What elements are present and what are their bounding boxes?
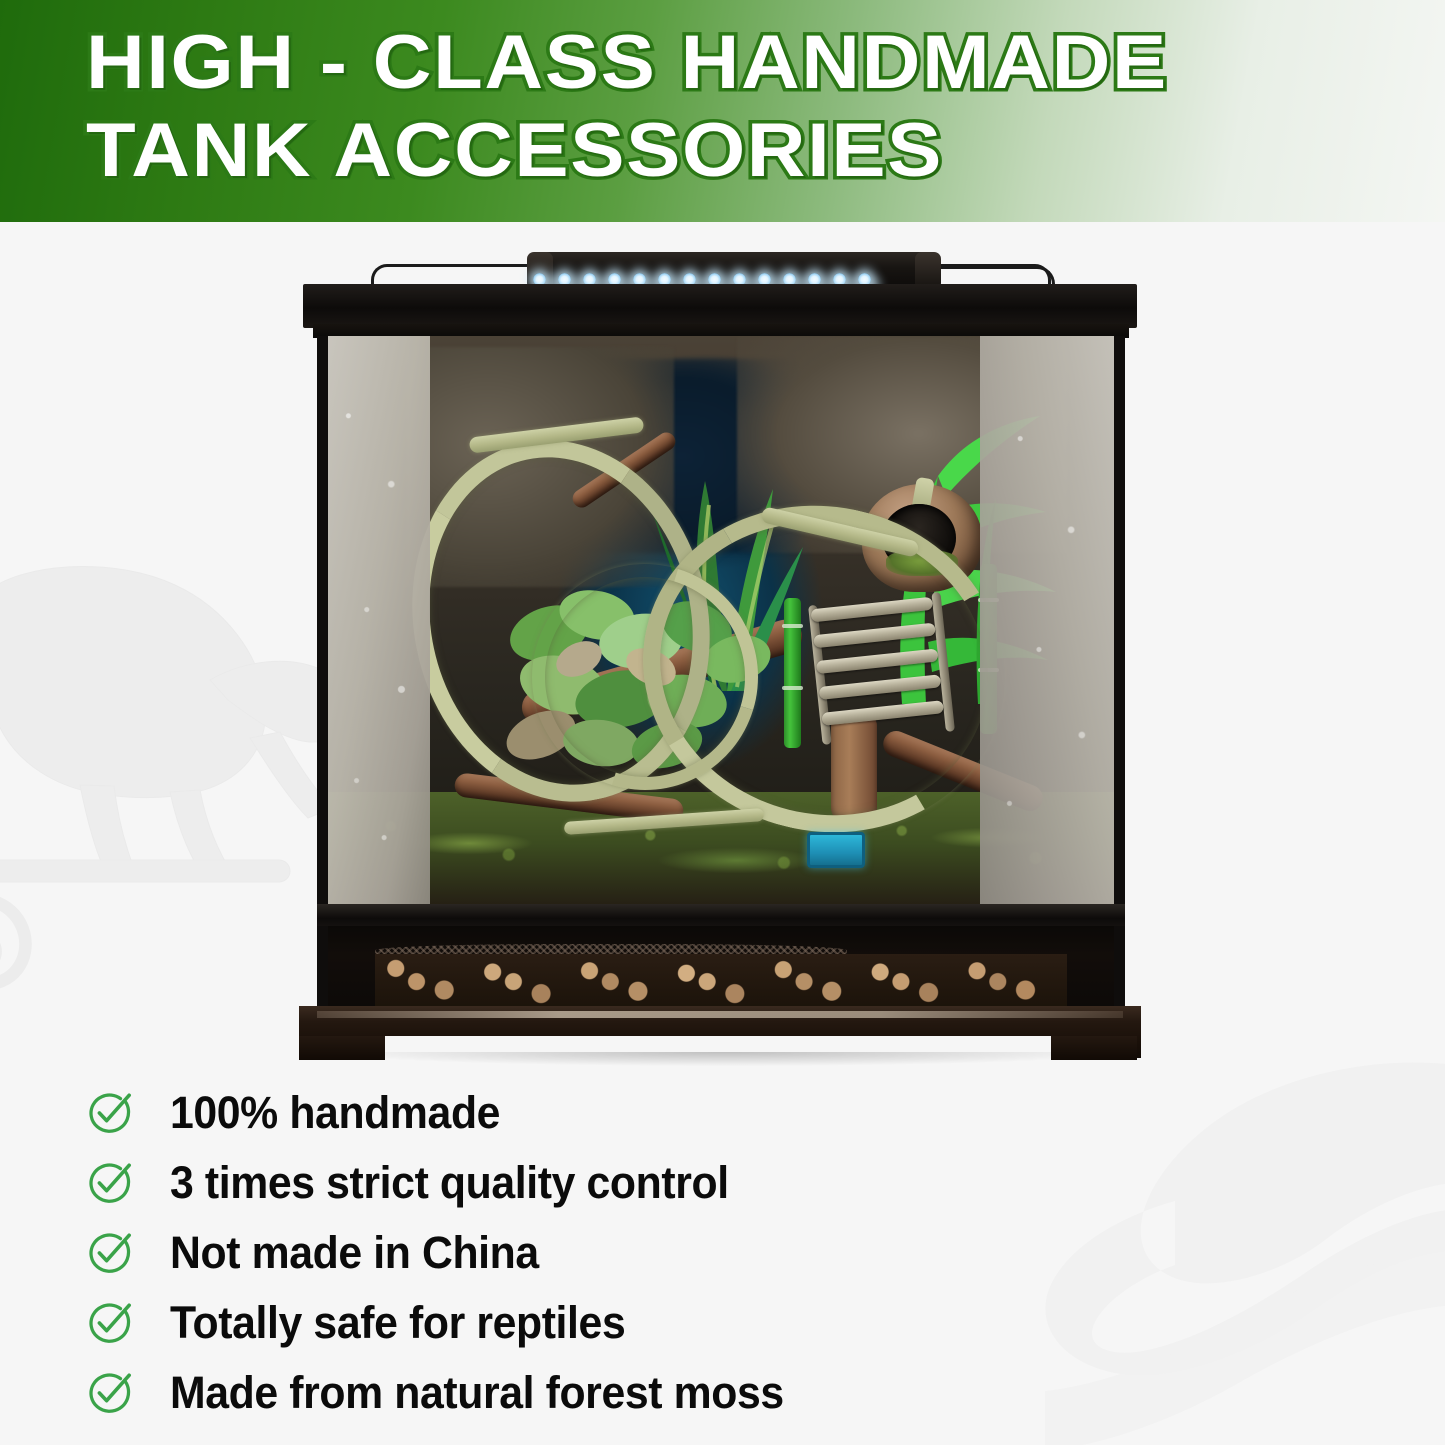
tank-glass-body (317, 336, 1125, 906)
feature-list: 100% handmade 3 times strict quality con… (86, 1078, 1036, 1428)
feature-item-handmade: 100% handmade (86, 1078, 1036, 1148)
tank-mid-frame (317, 904, 1125, 928)
tank-base-highlight (317, 1011, 1123, 1018)
check-circle-icon (86, 1160, 132, 1206)
title-line-2: TANK ACCESSORIES (86, 110, 1349, 192)
feature-item-origin: Not made in China (86, 1218, 1036, 1288)
feature-label: Not made in China (170, 1227, 539, 1279)
clay-ball-drainage-layer (375, 954, 1067, 1014)
product-marketing-image: HIGH - CLASS HANDMADE TANK ACCESSORIES (0, 0, 1445, 1445)
glass-condensation-left (328, 336, 430, 906)
digital-hygrometer (807, 832, 865, 868)
feature-item-quality-control: 3 times strict quality control (86, 1148, 1036, 1218)
check-circle-icon (86, 1090, 132, 1136)
tank-lid (303, 284, 1137, 328)
check-circle-icon (86, 1370, 132, 1416)
check-circle-icon (86, 1230, 132, 1276)
feature-label: 100% handmade (170, 1087, 500, 1139)
feature-item-safety: Totally safe for reptiles (86, 1288, 1036, 1358)
feature-item-material: Made from natural forest moss (86, 1358, 1036, 1428)
title-line-1: HIGH - CLASS HANDMADE (86, 22, 1349, 104)
glass-condensation-right (980, 336, 1114, 906)
check-circle-icon (86, 1300, 132, 1346)
feature-label: 3 times strict quality control (170, 1157, 729, 1209)
snake-watermark-icon (1025, 1055, 1445, 1445)
feature-label: Totally safe for reptiles (170, 1297, 625, 1349)
page-title: HIGH - CLASS HANDMADE TANK ACCESSORIES (86, 22, 1266, 192)
header-banner: HIGH - CLASS HANDMADE TANK ACCESSORIES (0, 0, 1445, 222)
terrarium-product-image (295, 246, 1145, 1036)
feature-label: Made from natural forest moss (170, 1367, 784, 1419)
tank-drop-shadow (335, 1052, 1115, 1066)
